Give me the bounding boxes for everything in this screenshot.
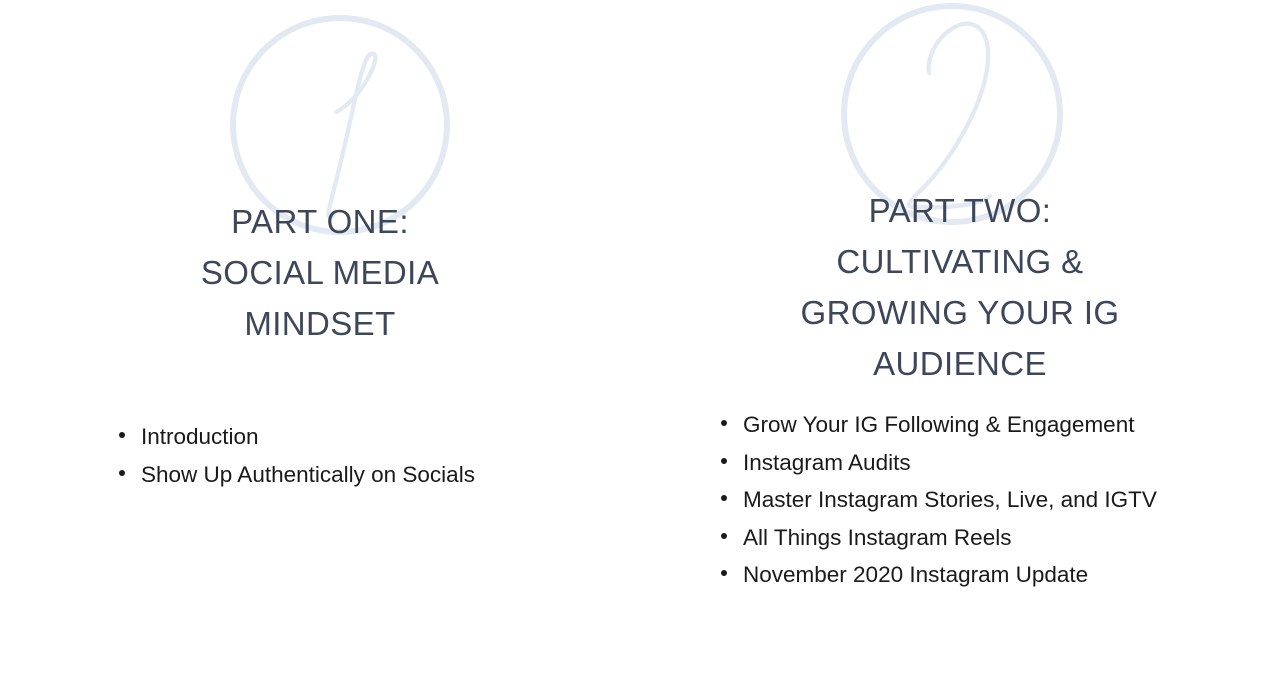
handwritten-number-two-icon bbox=[909, 24, 990, 208]
part-one-title-line-2: SOCIAL MEDIA bbox=[120, 247, 520, 298]
list-item-label: Introduction bbox=[141, 424, 259, 449]
part-one-title-line-1: PART ONE: bbox=[120, 196, 520, 247]
part-two-column: PART TWO: CULTIVATING & GROWING YOUR IG … bbox=[640, 0, 1280, 685]
part-two-title-line-2: CULTIVATING & bbox=[745, 236, 1175, 287]
bullet-icon bbox=[119, 432, 125, 438]
part-two-topic-list: Grow Your IG Following & Engagement Inst… bbox=[720, 406, 1190, 594]
list-item: November 2020 Instagram Update bbox=[720, 556, 1190, 593]
bullet-icon bbox=[119, 470, 125, 476]
bullet-icon bbox=[721, 420, 727, 426]
part-one-topic-list: Introduction Show Up Authentically on So… bbox=[118, 418, 588, 493]
list-item: Show Up Authentically on Socials bbox=[118, 456, 588, 493]
list-item-label: Show Up Authentically on Socials bbox=[141, 462, 475, 487]
list-item: Master Instagram Stories, Live, and IGTV bbox=[720, 481, 1190, 518]
part-two-title-line-3: GROWING YOUR IG bbox=[745, 287, 1175, 338]
list-item-label: November 2020 Instagram Update bbox=[743, 562, 1088, 587]
list-item-label: Grow Your IG Following & Engagement bbox=[743, 412, 1134, 437]
handwritten-number-one-icon bbox=[328, 54, 375, 218]
part-one-title: PART ONE: SOCIAL MEDIA MINDSET bbox=[0, 196, 640, 349]
part-two-title: PART TWO: CULTIVATING & GROWING YOUR IG … bbox=[640, 185, 1280, 389]
list-item: Introduction bbox=[118, 418, 588, 455]
part-one-column: PART ONE: SOCIAL MEDIA MINDSET Introduct… bbox=[0, 0, 640, 685]
part-two-title-line-1: PART TWO: bbox=[745, 185, 1175, 236]
bullet-icon bbox=[721, 570, 727, 576]
part-one-title-line-3: MINDSET bbox=[120, 298, 520, 349]
bullet-icon bbox=[721, 533, 727, 539]
part-two-title-line-4: AUDIENCE bbox=[745, 338, 1175, 389]
list-item: All Things Instagram Reels bbox=[720, 519, 1190, 556]
list-item-label: Instagram Audits bbox=[743, 450, 911, 475]
slide-canvas: PART ONE: SOCIAL MEDIA MINDSET Introduct… bbox=[0, 0, 1280, 685]
bullet-icon bbox=[721, 495, 727, 501]
list-item: Instagram Audits bbox=[720, 444, 1190, 481]
bullet-icon bbox=[721, 458, 727, 464]
list-item-label: All Things Instagram Reels bbox=[743, 525, 1011, 550]
list-item: Grow Your IG Following & Engagement bbox=[720, 406, 1190, 443]
list-item-label: Master Instagram Stories, Live, and IGTV bbox=[743, 487, 1157, 512]
